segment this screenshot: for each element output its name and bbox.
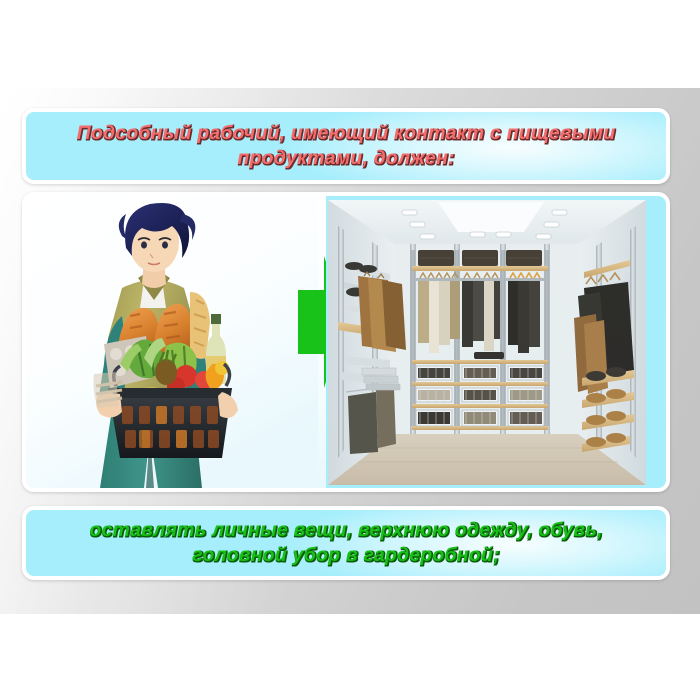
wardrobe-room-photo: Гардеробная комната с металлическими сте… — [326, 196, 666, 488]
title-panel: Подсобный рабочий, имеющий контакт с пищ… — [22, 108, 670, 184]
conclusion-panel: оставлять личные вещи, верхнюю одежду, о… — [22, 506, 670, 580]
worker-with-groceries-illustration: Подсобный рабочий в зелёной спецодежде д… — [26, 196, 318, 488]
slide-root: Подсобный рабочий, имеющий контакт с пищ… — [0, 0, 700, 700]
conclusion-text: оставлять личные вещи, верхнюю одежду, о… — [26, 518, 666, 568]
wardrobe-photo-alt: Гардеробная комната с металлическими сте… — [326, 196, 327, 197]
media-panel: Подсобный рабочий в зелёной спецодежде д… — [22, 192, 670, 492]
page-title: Подсобный рабочий, имеющий контакт с пищ… — [26, 121, 666, 171]
